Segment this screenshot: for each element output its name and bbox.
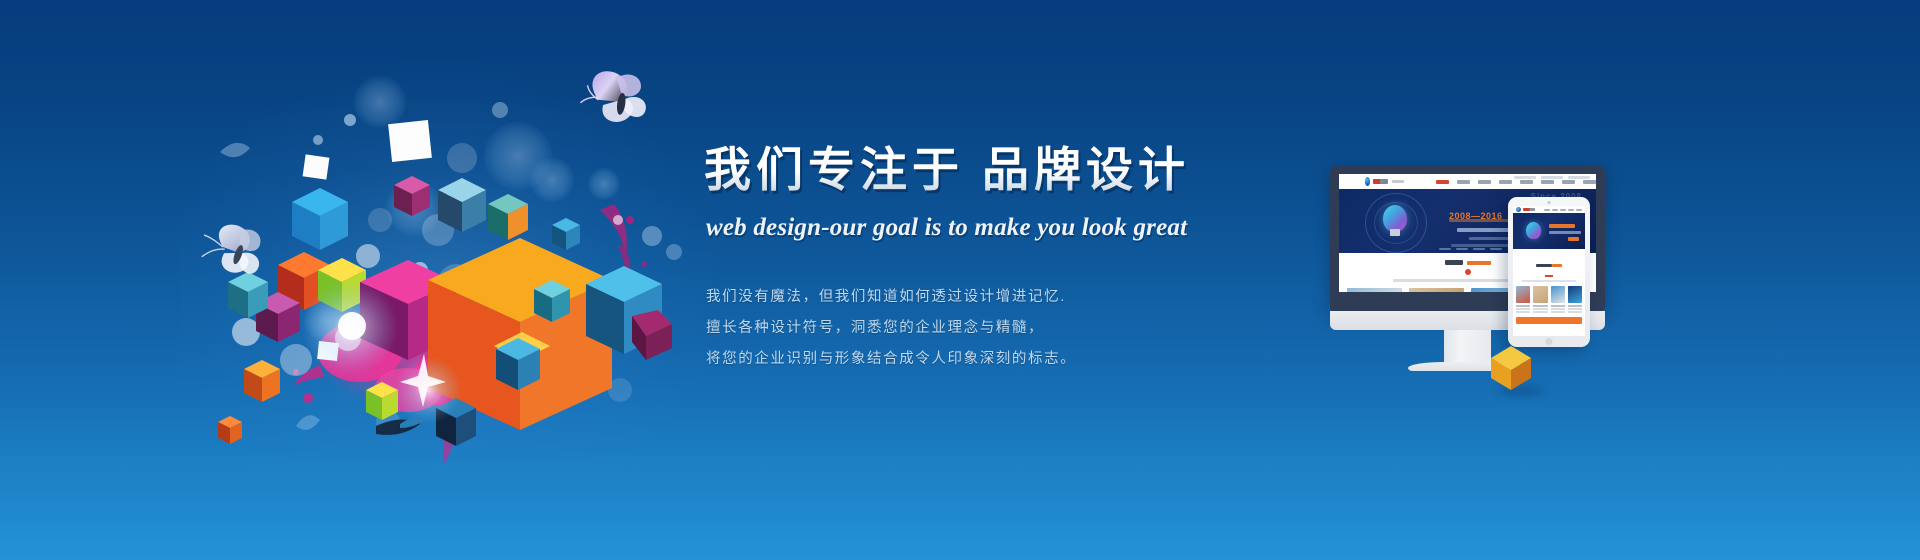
device-mockups: Since 2008 2008—2016厚积九年 — [1330, 165, 1750, 425]
card-text-bar — [1516, 311, 1530, 313]
section-title-bar — [1445, 260, 1463, 265]
phone-hero-cta-button — [1568, 237, 1579, 241]
card-text-bar — [1568, 311, 1582, 313]
section-title-dot — [1465, 269, 1471, 275]
phone-card — [1568, 286, 1582, 313]
phone-card — [1551, 286, 1565, 313]
description-paragraph: 我们没有魔法，但我们知道如何透过设计增进记忆. 擅长各种设计符号，洞悉您的企业理… — [706, 289, 1264, 367]
menu-item — [1576, 209, 1582, 211]
slider-dot — [1439, 248, 1451, 250]
menu-item — [1499, 180, 1512, 184]
website-logo-subtext — [1392, 180, 1404, 183]
menu-item — [1560, 209, 1566, 211]
card-text-bar — [1551, 308, 1565, 310]
menu-item — [1478, 180, 1491, 184]
card-text-bar — [1568, 308, 1582, 310]
phone-home-button — [1546, 338, 1553, 345]
butterfly-icon — [576, 65, 648, 127]
mobile-phone-mockup — [1508, 197, 1590, 347]
website-logo-text — [1373, 179, 1388, 184]
phone-screen — [1513, 206, 1585, 336]
card-thumbnail — [1516, 286, 1530, 303]
phone-section-title-2 — [1513, 328, 1585, 336]
website-menu — [1436, 180, 1596, 184]
phone-menu — [1544, 209, 1582, 211]
slider-dot — [1456, 248, 1468, 250]
menu-item — [1436, 180, 1449, 184]
hero-copy: 我们专注于 品牌设计 web design-our goal is to mak… — [704, 140, 1264, 367]
menu-item — [1568, 209, 1574, 211]
card-text-bar — [1551, 311, 1565, 313]
card-text-bar — [1516, 308, 1530, 310]
phone-navbar — [1513, 206, 1585, 213]
website-navbar — [1339, 174, 1596, 189]
menu-item — [1520, 180, 1533, 184]
menu-item — [1544, 209, 1550, 211]
orange-cube — [1491, 346, 1531, 390]
menu-item — [1552, 209, 1558, 211]
butterfly-icon — [200, 222, 262, 275]
contact-line — [1541, 176, 1563, 179]
slider-dot — [1473, 248, 1485, 250]
website-logo-icon — [1365, 177, 1370, 186]
phone-card — [1533, 286, 1547, 313]
phone-logo-text — [1523, 208, 1535, 211]
section-title-bar — [1536, 264, 1552, 267]
card-title-bar — [1516, 305, 1530, 307]
website-top-contact — [1514, 176, 1590, 179]
contact-line — [1568, 176, 1590, 179]
website-card — [1347, 288, 1402, 292]
section-title-dot — [1545, 275, 1553, 277]
menu-item — [1562, 180, 1575, 184]
card-title-bar — [1533, 305, 1547, 307]
phone-camera — [1548, 201, 1551, 204]
description-line-3: 将您的企业识别与形象结合成令人印象深刻的标志。 — [706, 351, 1264, 367]
card-text-bar — [1533, 311, 1547, 313]
description-line-2: 擅长各种设计符号，洞悉您的企业理念与精髓， — [706, 320, 1264, 336]
cube-explosion-artwork — [200, 60, 720, 480]
card-thumbnail — [1551, 286, 1565, 303]
website-section-title — [1445, 260, 1491, 265]
section-title-accent — [1467, 261, 1491, 265]
section-title-accent — [1552, 264, 1562, 267]
hero-slider-dots — [1439, 248, 1502, 250]
phone-section-title — [1513, 254, 1585, 272]
section-description-bar — [1522, 280, 1576, 282]
phone-hero — [1513, 213, 1585, 249]
contact-line — [1514, 176, 1536, 179]
phone-hero-subtitle-bar — [1549, 231, 1581, 234]
card-thumbnail — [1533, 286, 1547, 303]
page-title: 我们专注于 品牌设计 — [704, 140, 1264, 200]
phone-card-row — [1513, 286, 1585, 313]
lightbulb-icon — [1526, 222, 1541, 239]
menu-item — [1541, 180, 1554, 184]
lightbulb-icon — [1383, 205, 1407, 232]
phone-hero-title-bar — [1549, 224, 1575, 228]
slider-dot — [1490, 248, 1502, 250]
card-thumbnail — [1568, 286, 1582, 303]
description-line-1: 我们没有魔法，但我们知道如何透过设计增进记忆. — [706, 289, 1264, 305]
menu-item — [1583, 180, 1596, 184]
phone-orange-banner — [1516, 317, 1582, 324]
menu-item — [1457, 180, 1470, 184]
monitor-neck — [1444, 330, 1491, 365]
hero-banner: 我们专注于 品牌设计 web design-our goal is to mak… — [0, 0, 1920, 560]
card-title-bar — [1551, 305, 1565, 307]
phone-logo-icon — [1516, 207, 1521, 212]
website-card — [1409, 288, 1464, 292]
page-subtitle: web design-our goal is to make you look … — [706, 214, 1264, 242]
phone-card — [1516, 286, 1530, 313]
card-text-bar — [1533, 308, 1547, 310]
card-title-bar — [1568, 305, 1582, 307]
